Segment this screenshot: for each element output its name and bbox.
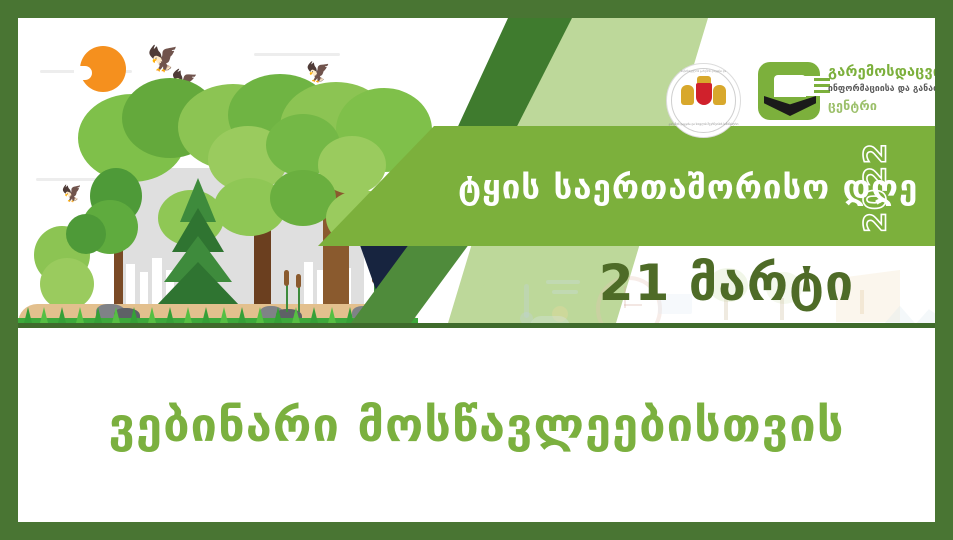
ceic-line-3: ცენტრი	[828, 98, 877, 113]
ceic-logo-mark-icon	[758, 62, 820, 120]
ceic-line-2: ინფორმაციისა და განათლების	[828, 84, 935, 94]
crown-icon	[697, 76, 711, 83]
page-title: ტყის საერთაშორისო დღე	[458, 167, 918, 206]
event-date: 21 მარტი	[599, 254, 854, 312]
georgia-government-emblem-icon: საქართველოს გარემოს დაცვისა და გარემოს დ…	[666, 63, 741, 138]
lower-panel: ვებინარი მოსწავლეებისთვის	[18, 328, 935, 522]
upper-panel: 🦅 🦅 🦅 🦅	[18, 18, 935, 323]
lion-icon	[681, 85, 694, 105]
shield-icon	[696, 83, 712, 105]
emblem-caption: გარემოს დაცვისა და სოფლის მეურნეობის სამ…	[666, 123, 741, 127]
lion-icon	[713, 85, 726, 105]
poster-root: 🦅 🦅 🦅 🦅	[0, 0, 953, 540]
ceic-logo: გარემოსდაცვითი ინფორმაციისა და განათლები…	[758, 60, 935, 136]
title-bar: ტყის საერთაშორისო დღე 2022	[428, 138, 935, 235]
footer-text: ვებინარი მოსწავლეებისთვის	[109, 398, 845, 453]
poster-inner: 🦅 🦅 🦅 🦅	[18, 18, 935, 522]
date-area: 21 მარტი	[518, 243, 935, 323]
year-label: 2022	[858, 141, 893, 233]
ceic-line-1: გარემოსდაცვითი	[828, 64, 935, 80]
logo-cutout	[774, 75, 806, 97]
emblem-arc-text: საქართველოს გარემოს დაცვისა და	[666, 70, 741, 73]
